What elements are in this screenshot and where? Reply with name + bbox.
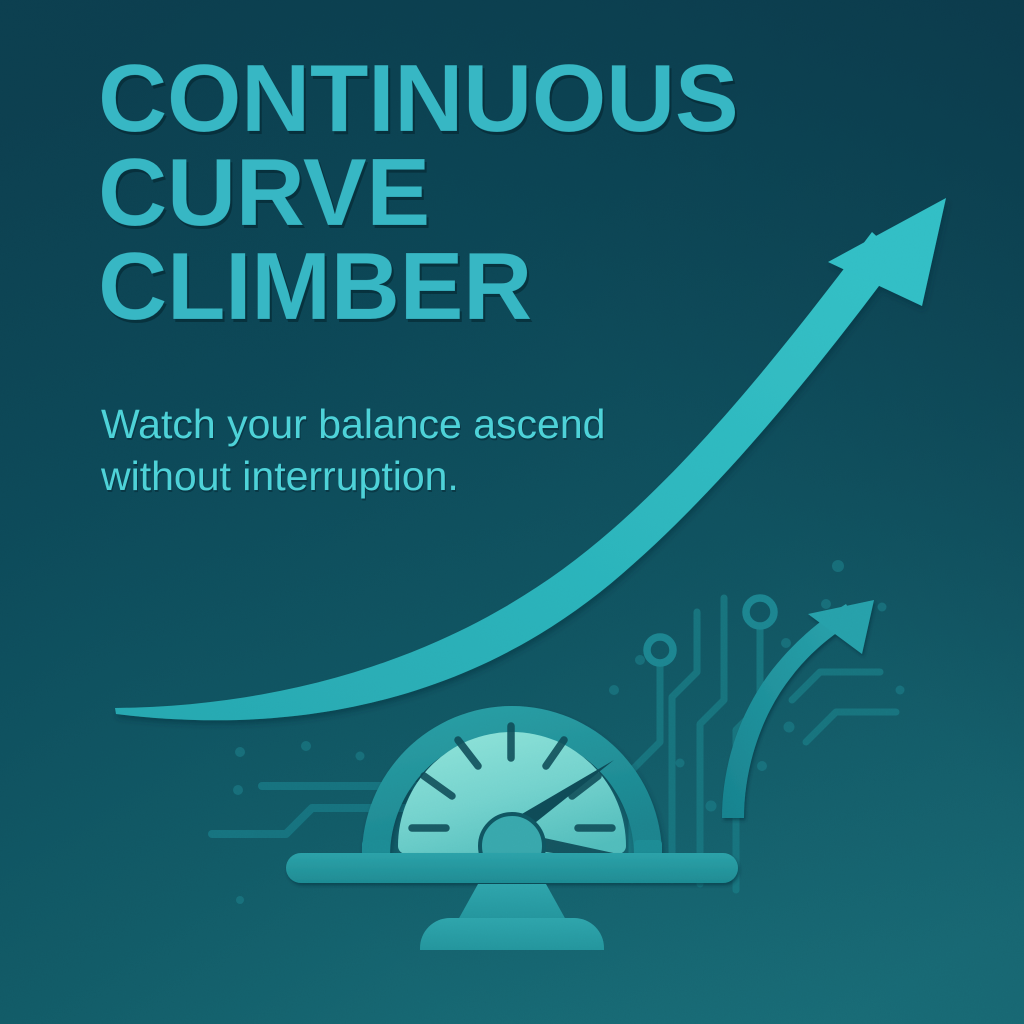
grain-overlay xyxy=(0,0,1024,1024)
poster-canvas: CONTINUOUS CURVE CLIMBER Watch your bala… xyxy=(0,0,1024,1024)
poster-artwork xyxy=(0,0,1024,1024)
